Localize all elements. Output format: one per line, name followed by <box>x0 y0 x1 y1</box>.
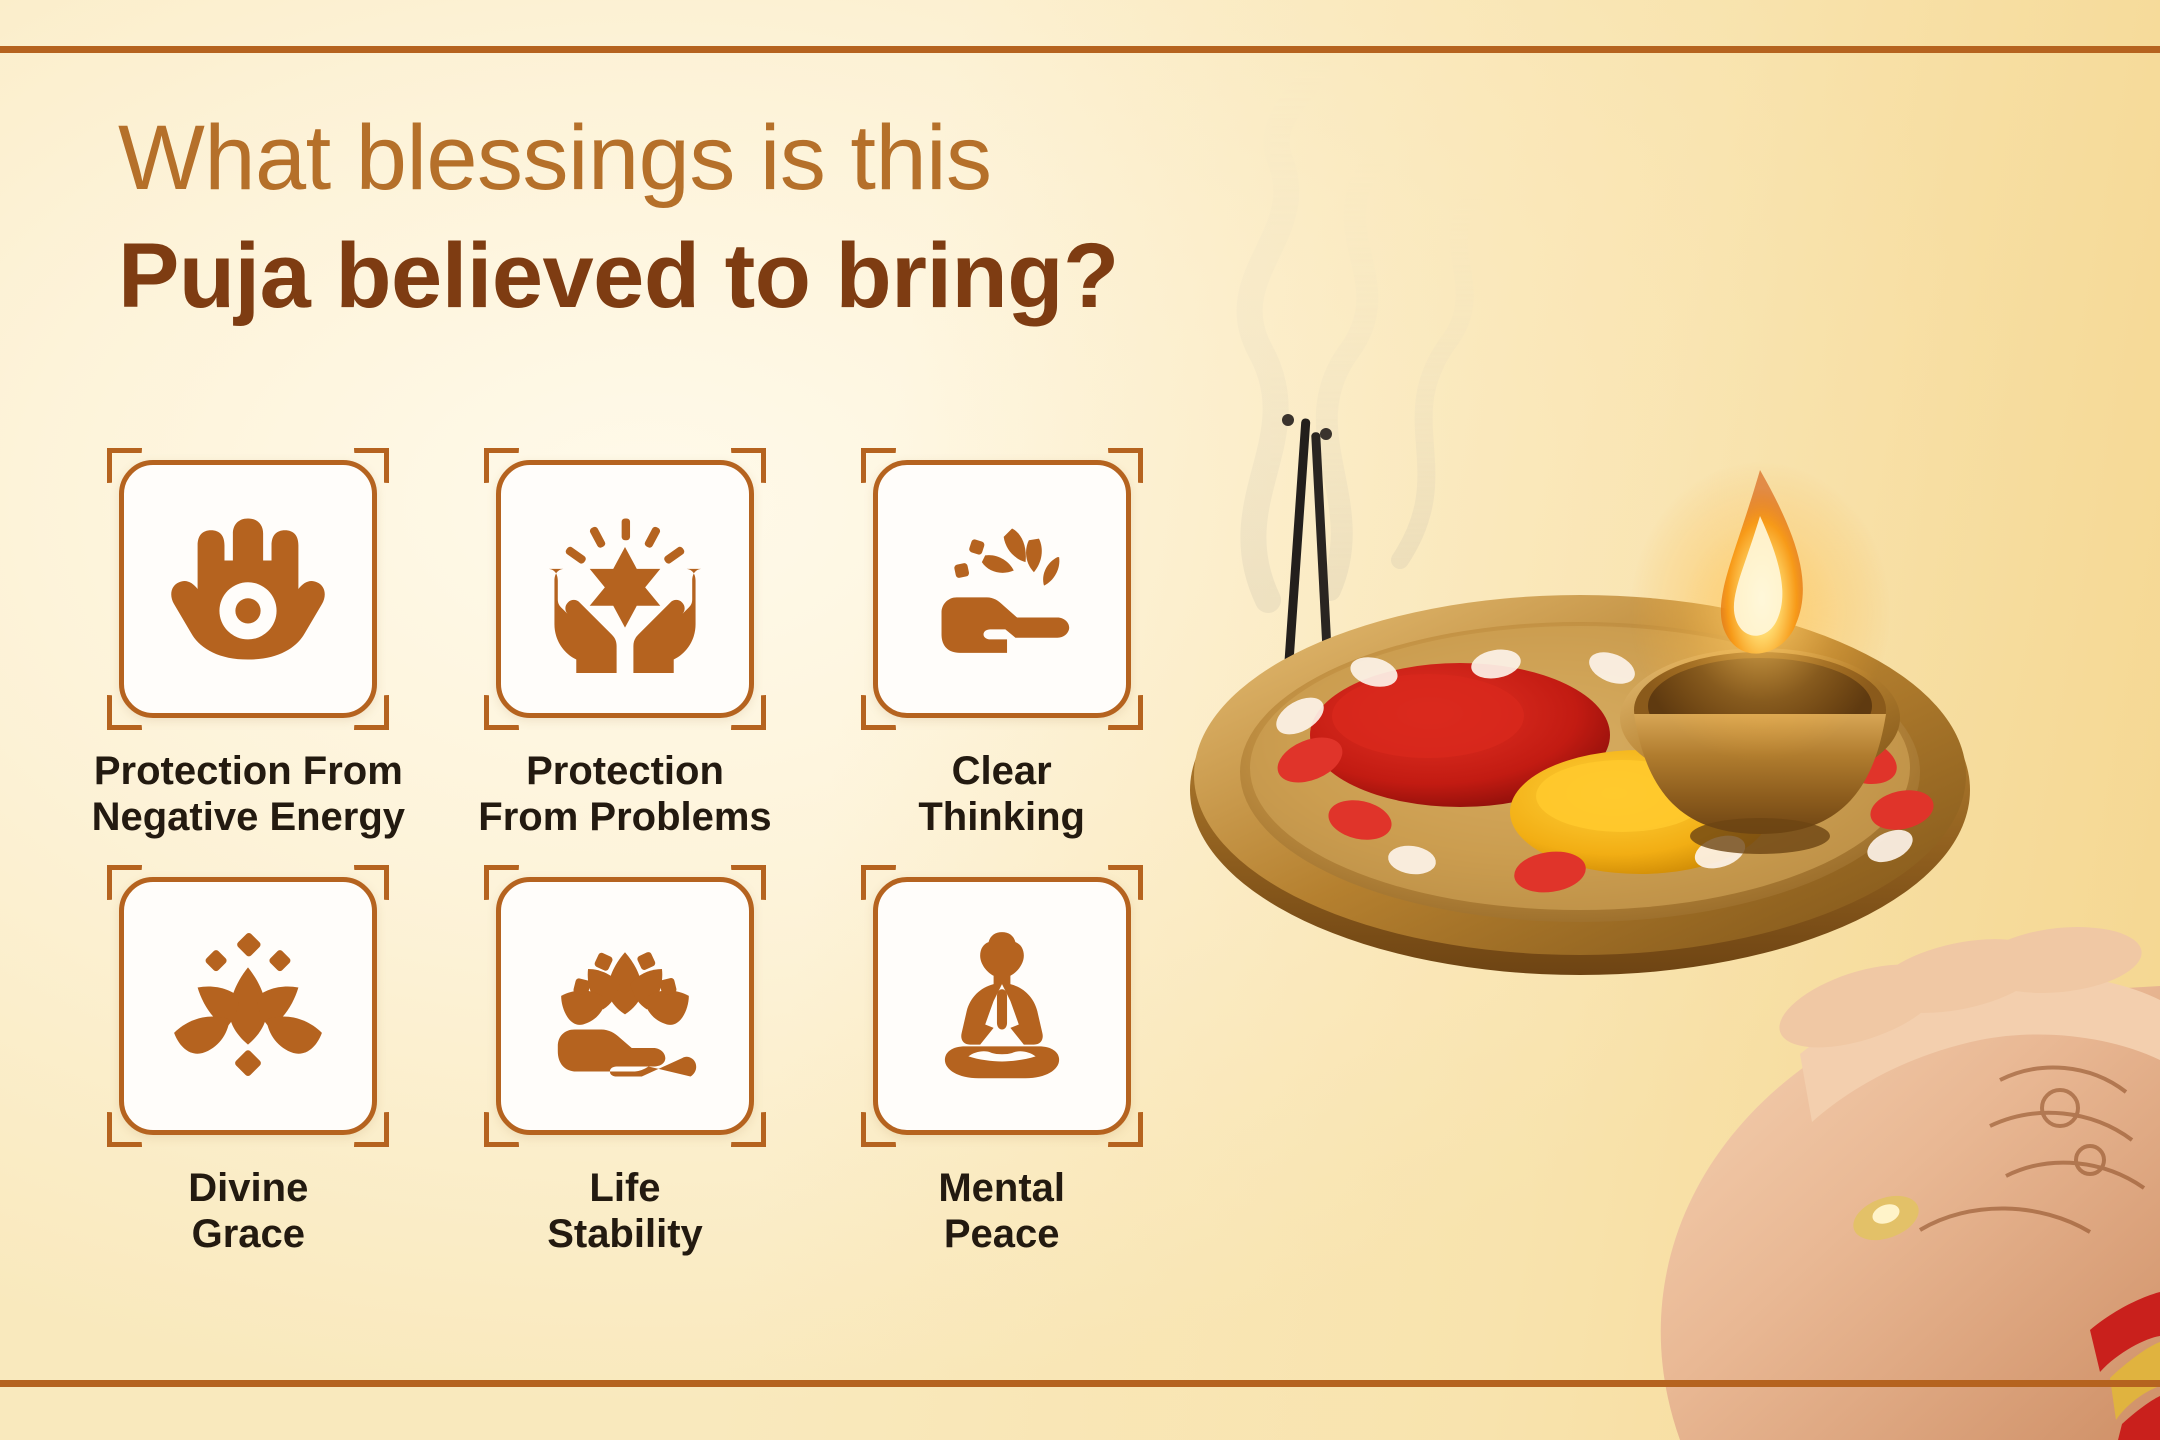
blessing-item-protection-from-problems[interactable]: Protection From Problems <box>437 460 814 841</box>
card-corner-notch <box>484 448 519 483</box>
icon-card[interactable] <box>873 460 1131 718</box>
blessing-caption: Protection From Problems <box>478 748 771 841</box>
card-corner-notch <box>731 695 766 730</box>
flame <box>1630 462 1890 762</box>
hamsa-hand-eye-icon <box>164 505 332 673</box>
blessing-caption: Mental Peace <box>938 1165 1065 1258</box>
card-corner-notch <box>731 448 766 483</box>
blessing-item-divine-grace[interactable]: Divine Grace <box>60 877 437 1258</box>
top-divider-rule <box>0 46 2160 53</box>
card-corner-notch <box>731 1112 766 1147</box>
icon-card[interactable] <box>496 460 754 718</box>
card-corner-notch <box>484 865 519 900</box>
card-corner-notch <box>107 1112 142 1147</box>
hand-with-mehndi <box>1661 920 2160 1440</box>
blessing-item-mental-peace[interactable]: Mental Peace <box>813 877 1190 1258</box>
title-line-2: Puja believed to bring? <box>118 230 1398 322</box>
card-corner-notch <box>1108 448 1143 483</box>
blessing-caption: Clear Thinking <box>918 748 1085 841</box>
card-corner-notch <box>1108 865 1143 900</box>
card-corner-notch <box>1108 1112 1143 1147</box>
card-corner-notch <box>354 448 389 483</box>
card-corner-notch <box>861 1112 896 1147</box>
card-corner-notch <box>1108 695 1143 730</box>
caption-line-2: Negative Energy <box>92 794 405 840</box>
icon-card[interactable] <box>496 877 754 1135</box>
caption-line-2: From Problems <box>478 794 771 840</box>
card-corner-notch <box>731 865 766 900</box>
card-corner-notch <box>861 695 896 730</box>
blessing-item-life-stability[interactable]: Life Stability <box>437 877 814 1258</box>
page-title: What blessings is this Puja believed to … <box>118 112 1398 322</box>
bottom-divider-rule <box>0 1380 2160 1387</box>
blessings-grid: Protection From Negative Energy <box>60 460 1190 1258</box>
lotus-flower-icon <box>164 922 332 1090</box>
hand-holding-lotus-icon <box>541 922 709 1090</box>
hand-holding-lotus-side-icon <box>918 505 1086 673</box>
meditating-person-icon <box>918 922 1086 1090</box>
caption-line-1: Clear <box>918 748 1085 794</box>
hands-holding-star-icon <box>541 505 709 673</box>
card-corner-notch <box>354 1112 389 1147</box>
blessing-caption: Life Stability <box>547 1165 703 1258</box>
blessing-caption: Protection From Negative Energy <box>92 748 405 841</box>
caption-line-2: Peace <box>938 1211 1065 1257</box>
card-corner-notch <box>107 448 142 483</box>
caption-line-1: Protection From <box>92 748 405 794</box>
icon-card[interactable] <box>873 877 1131 1135</box>
blessing-caption: Divine Grace <box>188 1165 308 1258</box>
card-corner-notch <box>107 865 142 900</box>
caption-line-1: Divine <box>188 1165 308 1211</box>
card-corner-notch <box>484 1112 519 1147</box>
icon-card[interactable] <box>119 460 377 718</box>
caption-line-1: Protection <box>478 748 771 794</box>
blessing-item-protection-from-negative-energy[interactable]: Protection From Negative Energy <box>60 460 437 841</box>
card-corner-notch <box>354 865 389 900</box>
icon-card[interactable] <box>119 877 377 1135</box>
card-corner-notch <box>861 865 896 900</box>
title-line-1: What blessings is this <box>118 112 1398 204</box>
caption-line-2: Grace <box>188 1211 308 1257</box>
caption-line-1: Mental <box>938 1165 1065 1211</box>
poster-canvas: What blessings is this Puja believed to … <box>0 0 2160 1440</box>
caption-line-2: Thinking <box>918 794 1085 840</box>
caption-line-2: Stability <box>547 1211 703 1257</box>
blessing-item-clear-thinking[interactable]: Clear Thinking <box>813 460 1190 841</box>
card-corner-notch <box>861 448 896 483</box>
card-corner-notch <box>107 695 142 730</box>
card-corner-notch <box>484 695 519 730</box>
caption-line-1: Life <box>547 1165 703 1211</box>
card-corner-notch <box>354 695 389 730</box>
